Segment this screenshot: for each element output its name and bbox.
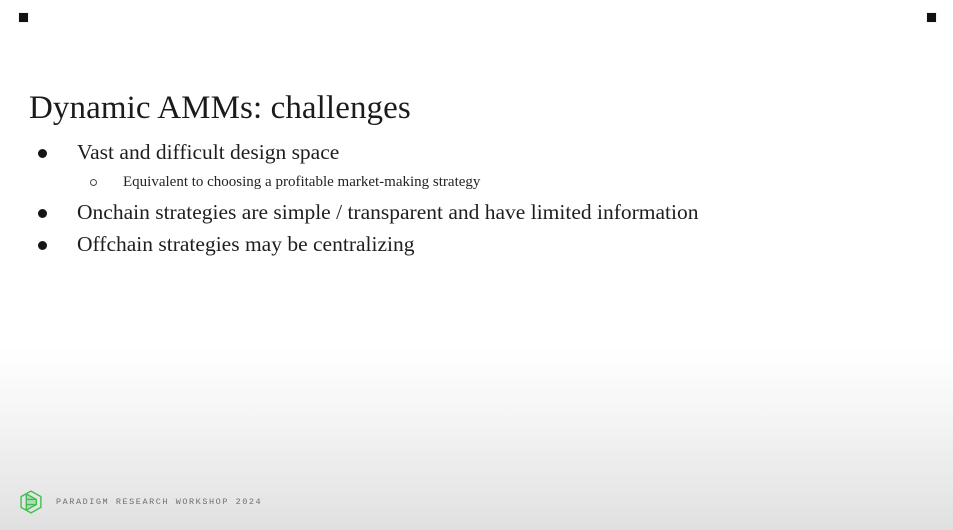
bullet-item: Offchain strategies may be centralizing	[0, 228, 920, 260]
paradigm-cube-logo-icon	[18, 489, 44, 515]
slide-title: Dynamic AMMs: challenges	[29, 88, 411, 128]
sub-bullet-item: Equivalent to choosing a profitable mark…	[0, 168, 920, 196]
sub-bullet-item-label: Equivalent to choosing a profitable mark…	[123, 174, 480, 190]
bullet-item: Vast and difficult design space	[0, 136, 920, 168]
bullet-item-label: Offchain strategies may be centralizing	[77, 232, 415, 256]
filled-disc-bullet-icon	[38, 241, 47, 250]
footer-label: PARADIGM RESEARCH WORKSHOP 2024	[56, 498, 262, 507]
presentation-slide: Dynamic AMMs: challenges Vast and diffic…	[0, 0, 953, 530]
registration-marker-top-left	[18, 12, 29, 23]
registration-marker-top-right	[926, 12, 937, 23]
filled-disc-bullet-icon	[38, 149, 47, 158]
bullet-item: Onchain strategies are simple / transpar…	[0, 196, 920, 228]
slide-bullet-list: Vast and difficult design space Equivale…	[0, 136, 920, 260]
hollow-circle-bullet-icon	[90, 179, 97, 186]
slide-footer: PARADIGM RESEARCH WORKSHOP 2024	[18, 488, 262, 516]
bullet-item-label: Vast and difficult design space	[77, 140, 339, 164]
filled-disc-bullet-icon	[38, 209, 47, 218]
bullet-item-label: Onchain strategies are simple / transpar…	[77, 200, 699, 224]
